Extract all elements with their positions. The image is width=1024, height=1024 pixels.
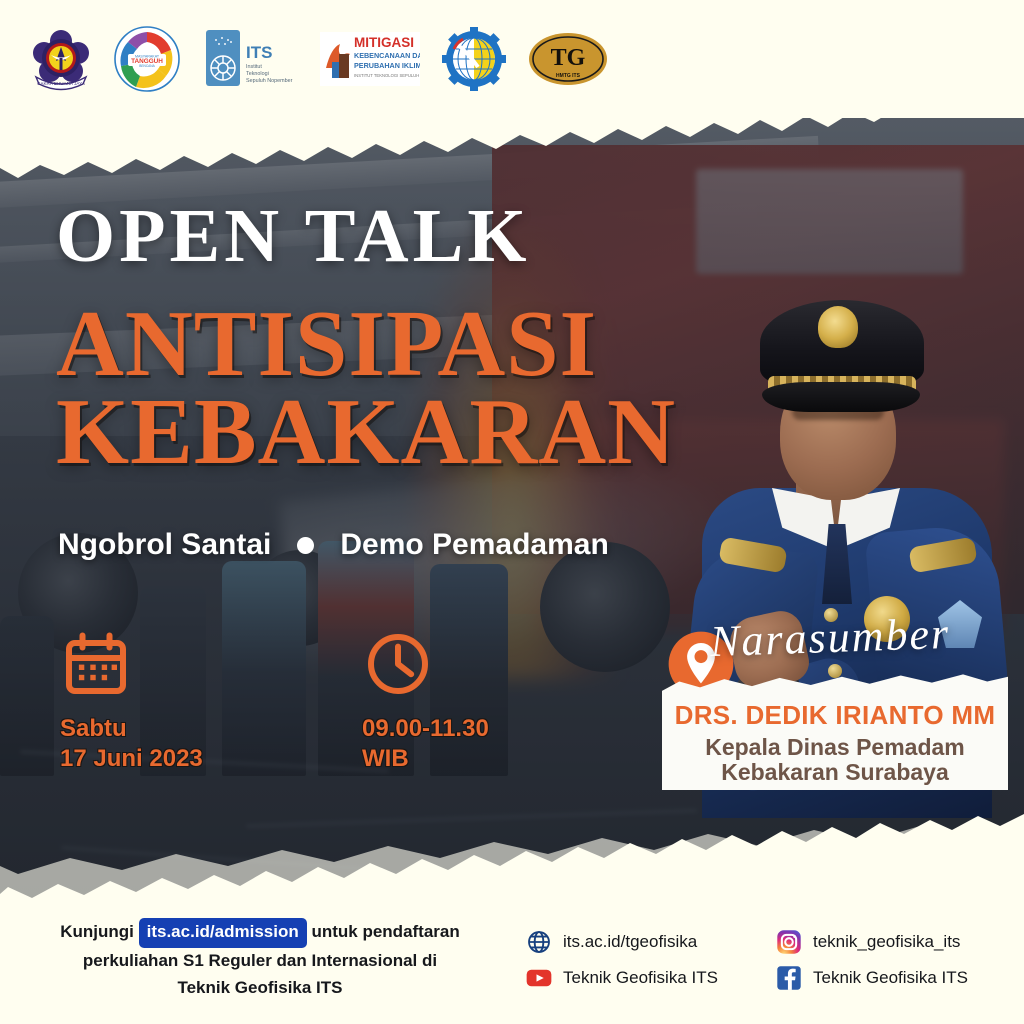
- svg-text:MITIGASI: MITIGASI: [354, 35, 414, 50]
- headline-block: OPEN TALK ANTISIPASI KEBAKARAN: [56, 198, 676, 477]
- event-poster: OPEN TALK ANTISIPASI KEBAKARAN Ngobrol S…: [0, 0, 1024, 1024]
- facebook-icon: [776, 965, 802, 991]
- facebook-handle: Teknik Geofisika ITS: [813, 968, 968, 988]
- mitigasi-logo: MITIGASI KEBENCANAAN DAN PERUBAHAN IKLIM…: [320, 32, 420, 86]
- subtitle-right: Demo Pemadaman: [340, 528, 608, 562]
- cta-line-1: Kunjungi its.ac.id/admission untuk penda…: [0, 918, 520, 948]
- title-main: ANTISIPASI KEBAKARAN: [56, 300, 676, 477]
- admission-cta: Kunjungi its.ac.id/admission untuk penda…: [0, 918, 520, 1001]
- event-detail-time: 09.00-11.30 WIB: [362, 626, 552, 774]
- speaker-role-line-2: Kebakaran Surabaya: [662, 760, 1008, 785]
- date-line-1: Sabtu: [60, 714, 250, 744]
- speaker-role-line-1: Kepala Dinas Pemadam: [662, 735, 1008, 760]
- svg-text:INSTITUT TEKNOLOGI SEPULUH NOP: INSTITUT TEKNOLOGI SEPULUH NOPEMBER: [354, 73, 420, 78]
- peaked-cap-brim: [762, 382, 920, 412]
- footer: Kunjungi its.ac.id/admission untuk penda…: [0, 904, 1024, 1024]
- svg-text:Institut: Institut: [246, 64, 262, 70]
- teknik-geofisika-logo: TG HMTG ITS: [528, 32, 608, 86]
- date-line-2: 17 Juni 2023: [60, 744, 250, 774]
- its-blue-logo: ITS Institut Teknologi Sepuluh Nopember: [202, 28, 298, 90]
- date-text: Sabtu 17 Juni 2023: [60, 714, 250, 774]
- logo-bar: CAKRA BHUANA JAYA MASYARAKAT TANGGUH BEN…: [0, 0, 1024, 118]
- time-text: 09.00-11.30 WIB: [362, 714, 552, 774]
- masyarakat-tangguh-logo: MASYARAKAT TANGGUH BENCANA: [114, 26, 180, 92]
- svg-text:PERUBAHAN IKLIM: PERUBAHAN IKLIM: [354, 61, 420, 70]
- social-facebook[interactable]: Teknik Geofisika ITS: [776, 965, 1006, 991]
- time-line-1: 09.00-11.30: [362, 714, 552, 744]
- svg-text:KEBENCANAAN DAN: KEBENCANAAN DAN: [354, 51, 420, 60]
- cta-line-2: perkuliahan S1 Reguler dan Internasional…: [0, 948, 520, 974]
- social-instagram[interactable]: teknik_geofisika_its: [776, 929, 1006, 955]
- calendar-icon: [60, 626, 250, 702]
- youtube-icon: [526, 965, 552, 991]
- youtube-handle: Teknik Geofisika ITS: [563, 968, 718, 988]
- narasumber-label: Narasumber: [709, 608, 951, 667]
- cap-badge-icon: [818, 306, 858, 348]
- instagram-handle: teknik_geofisika_its: [813, 932, 960, 952]
- svg-text:ITS: ITS: [246, 43, 272, 62]
- svg-text:CAKRA BHUANA JAYA: CAKRA BHUANA JAYA: [37, 81, 86, 86]
- social-youtube[interactable]: Teknik Geofisika ITS: [526, 965, 776, 991]
- time-line-2: WIB: [362, 744, 552, 774]
- speaker-card: DRS. DEDIK IRIANTO MM Kepala Dinas Pemad…: [662, 672, 1008, 790]
- bullet-dot-icon: [297, 537, 314, 554]
- its-crest-logo: CAKRA BHUANA JAYA: [30, 25, 92, 93]
- event-detail-date: Sabtu 17 Juni 2023: [60, 626, 250, 774]
- faculty-gear-globe-logo: [442, 27, 506, 91]
- instagram-icon: [776, 929, 802, 955]
- svg-text:Sepuluh Nopember: Sepuluh Nopember: [246, 78, 293, 84]
- svg-text:HMTG ITS: HMTG ITS: [556, 73, 581, 79]
- svg-text:TG: TG: [551, 45, 586, 71]
- cta-suffix: untuk pendaftaran: [311, 922, 459, 941]
- globe-icon: [526, 929, 552, 955]
- title-line-2: KEBAKARAN: [56, 388, 676, 476]
- admission-link-badge[interactable]: its.ac.id/admission: [139, 918, 307, 948]
- title-kicker: OPEN TALK: [56, 198, 676, 274]
- speaker-name: DRS. DEDIK IRIANTO MM: [662, 700, 1008, 731]
- social-website[interactable]: its.ac.id/tgeofisika: [526, 929, 776, 955]
- torn-paper-edge-bottom: [0, 810, 1024, 906]
- speaker-role: Kepala Dinas Pemadam Kebakaran Surabaya: [662, 735, 1008, 785]
- svg-text:Teknologi: Teknologi: [246, 71, 269, 77]
- social-links: its.ac.id/tgeofisika: [520, 918, 1024, 996]
- svg-text:BENCANA: BENCANA: [139, 64, 155, 68]
- clock-icon: [362, 626, 552, 702]
- website-handle: its.ac.id/tgeofisika: [563, 932, 697, 952]
- cta-line-3: Teknik Geofisika ITS: [0, 975, 520, 1001]
- subtitle-row: Ngobrol Santai Demo Pemadaman: [58, 528, 609, 562]
- subtitle-left: Ngobrol Santai: [58, 528, 271, 562]
- cta-prefix: Kunjungi: [60, 922, 134, 941]
